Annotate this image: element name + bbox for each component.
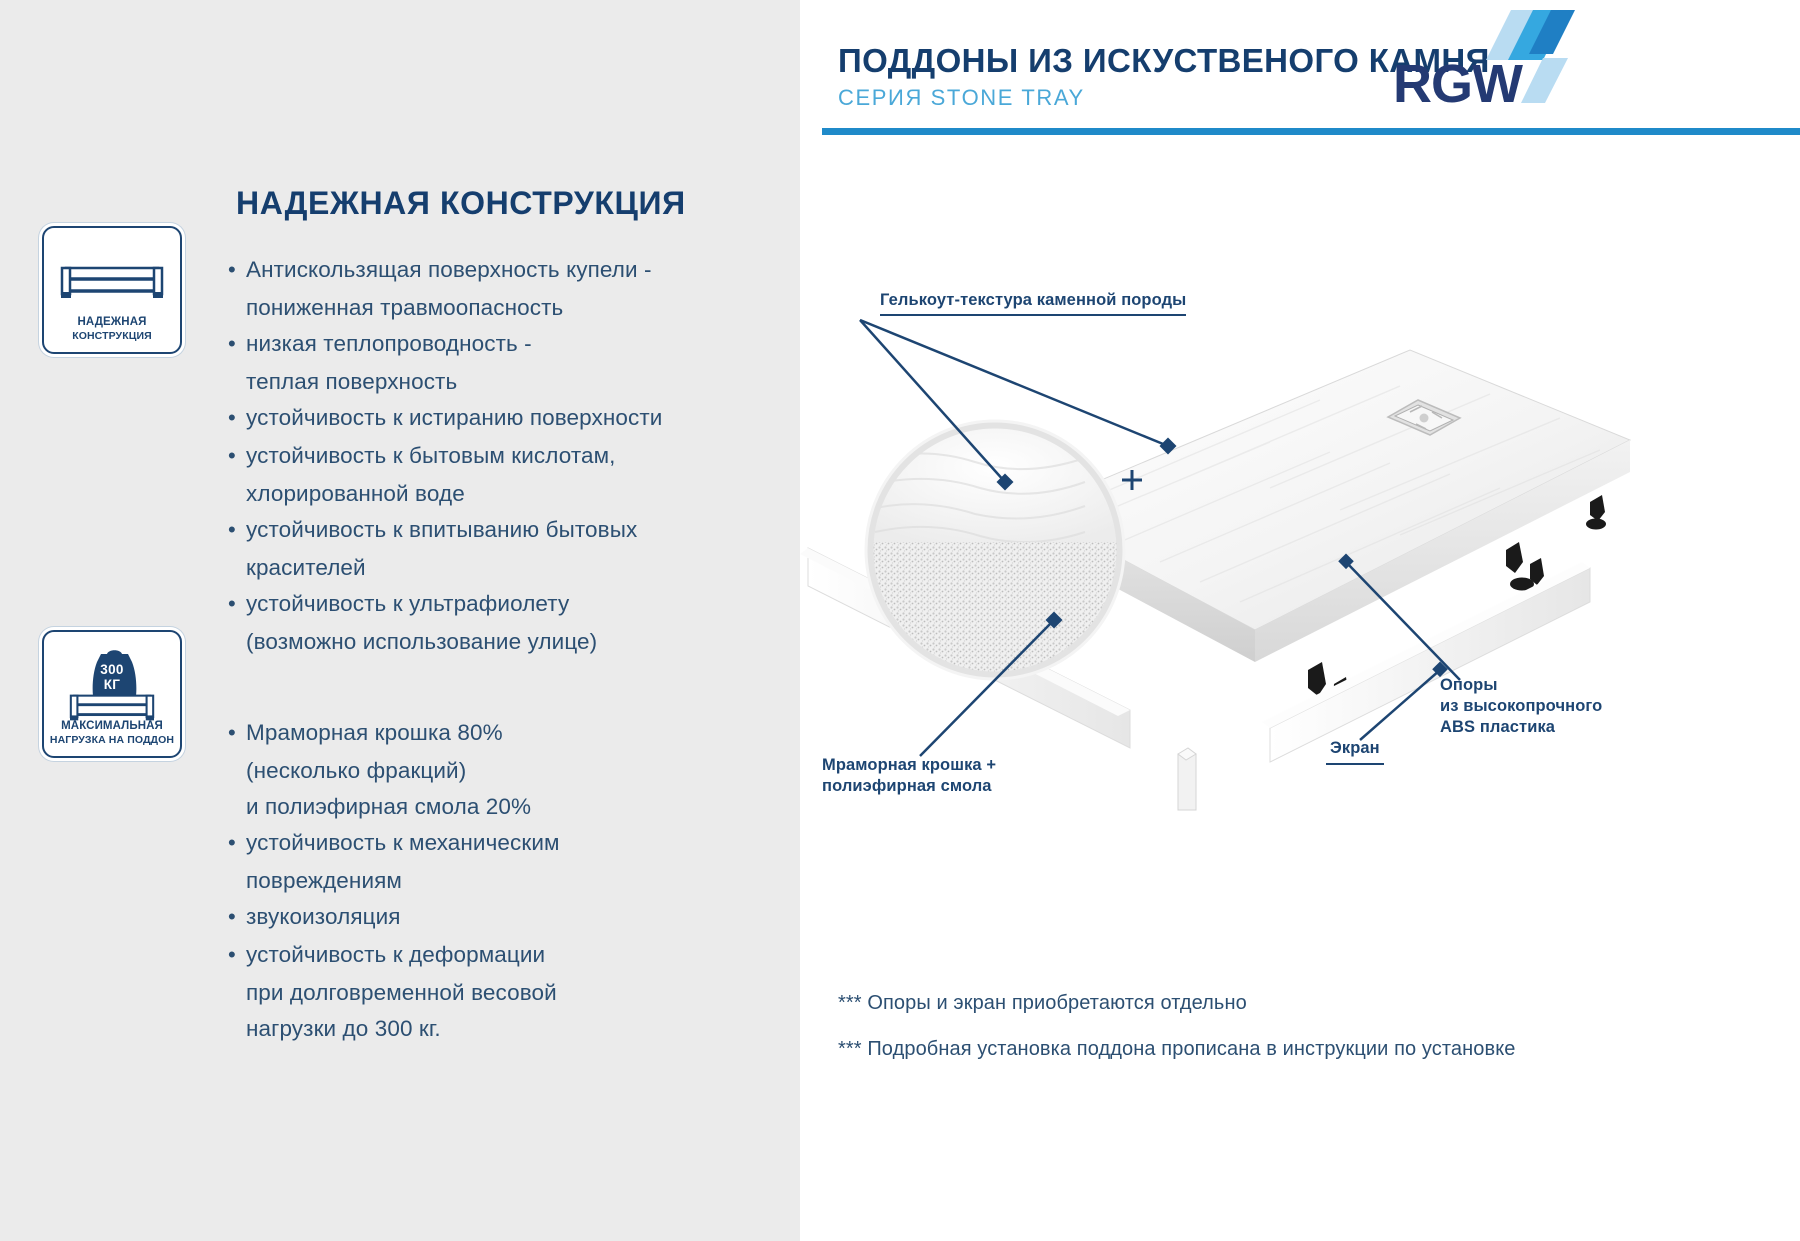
- callout-marble-line1: Мраморная крошка +: [822, 756, 996, 774]
- bullet-dot: •: [228, 825, 246, 861]
- weight-value: 300: [100, 662, 123, 677]
- feature-list-construction: •Антискользящая поверхность купели - пон…: [228, 252, 758, 660]
- list-item: •низкая теплопроводность -: [228, 326, 758, 362]
- footnote-row: *** Подробная установка поддона прописан…: [838, 1026, 1778, 1072]
- feature-list-material: •Мраморная крошка 80% (несколько фракций…: [228, 715, 758, 1047]
- list-item-label: низкая теплопроводность -: [246, 326, 532, 362]
- badge2-caption-line2: НАГРУЗКА НА ПОДДОН: [44, 734, 180, 748]
- list-item-label: устойчивость к механическим: [246, 825, 560, 861]
- badge1-caption-line2: КОНСТРУКЦИЯ: [44, 330, 180, 344]
- list-item-label: устойчивость к впитыванию бытовых: [246, 512, 637, 548]
- callout-supports-line3: ABS пластика: [1440, 718, 1555, 736]
- rgw-logo: RGW: [1393, 8, 1593, 118]
- bullet-dot: •: [228, 252, 246, 288]
- list-item-cont: и полиэфирная смола 20%: [228, 789, 758, 825]
- callout-supports-line1: Опоры: [1440, 676, 1498, 694]
- page-subtitle: СЕРИЯ STONE TRAY: [838, 85, 1085, 111]
- list-item-cont: нагрузки до 300 кг.: [228, 1011, 758, 1047]
- weight-value-label: 300 КГ: [44, 662, 180, 692]
- logo-wordmark: RGW: [1393, 53, 1522, 115]
- badge2-caption-line1: МАКСИМАЛЬНАЯ: [61, 720, 163, 732]
- list-item: •Мраморная крошка 80%: [228, 715, 758, 751]
- footnote-text: Опоры и экран приобретаются отдельно: [867, 992, 1247, 1014]
- list-item: •звукоизоляция: [228, 899, 758, 935]
- list-item-label: устойчивость к истиранию поверхности: [246, 400, 662, 436]
- page-title: ПОДДОНЫ ИЗ ИСКУСТВЕНОГО КАМНЯ: [838, 42, 1490, 80]
- callout-marble: Мраморная крошка + полиэфирная смола: [822, 755, 996, 797]
- list-item-cont: хлорированной воде: [228, 476, 758, 512]
- badge-max-load: 300 КГ МАКСИМАЛЬНАЯ НАГРУЗКА НА ПОДДОН: [42, 630, 182, 758]
- list-item-cont: пониженная травмоопасность: [228, 290, 758, 326]
- badge-reliable-construction: НАДЕЖНАЯ КОНСТРУКЦИЯ: [42, 226, 182, 354]
- list-item-cont: при долговременной весовой: [228, 975, 758, 1011]
- callout-supports: Опоры из высокопрочного ABS пластика: [1440, 675, 1602, 738]
- shower-tray-icon: [60, 694, 164, 722]
- bullet-dot: •: [228, 512, 246, 548]
- bullet-dot: •: [228, 326, 246, 362]
- infographic-page: НАДЕЖНАЯ КОНСТРУКЦИЯ НАДЕЖНАЯ КОНСТРУКЦИ…: [0, 0, 1800, 1241]
- material-magnifier: [866, 421, 1124, 682]
- product-diagram: Гелькоут-текстура каменной породы Мрамор…: [800, 150, 1800, 950]
- header-divider: [822, 128, 1800, 135]
- badge-caption: НАДЕЖНАЯ КОНСТРУКЦИЯ: [44, 316, 180, 343]
- list-item: •Антискользящая поверхность купели -: [228, 252, 758, 288]
- footnote-marker: ***: [838, 992, 862, 1014]
- badge1-caption-line1: НАДЕЖНАЯ: [78, 316, 147, 328]
- list-item-cont: красителей: [228, 550, 758, 586]
- footnote-text: Подробная установка поддона прописана в …: [867, 1038, 1515, 1060]
- list-item: •устойчивость к впитыванию бытовых: [228, 512, 758, 548]
- bullet-dot: •: [228, 438, 246, 474]
- callout-screen: Экран: [1330, 738, 1380, 759]
- bullet-dot: •: [228, 586, 246, 622]
- footnote-marker: ***: [838, 1038, 862, 1060]
- list-item-cont: повреждениям: [228, 863, 758, 899]
- footnotes: *** Опоры и экран приобретаются отдельно…: [838, 980, 1778, 1072]
- list-item-cont: теплая поверхность: [228, 364, 758, 400]
- list-item: •устойчивость к деформации: [228, 937, 758, 973]
- list-item-label: звукоизоляция: [246, 899, 401, 935]
- callout-supports-line2: из высокопрочного: [1440, 697, 1602, 715]
- bullet-dot: •: [228, 400, 246, 436]
- weight-unit: КГ: [104, 677, 121, 692]
- list-item-cont: (возможно использование улице): [228, 624, 758, 660]
- tray-illustration: [800, 150, 1800, 950]
- list-item: •устойчивость к ультрафиолету: [228, 586, 758, 622]
- bullet-dot: •: [228, 937, 246, 973]
- list-item: •устойчивость к механическим: [228, 825, 758, 861]
- bullet-dot: •: [228, 715, 246, 751]
- footnote-row: *** Опоры и экран приобретаются отдельно: [838, 980, 1778, 1026]
- callout-gelcoat: Гелькоут-текстура каменной породы: [880, 290, 1186, 311]
- list-item: •устойчивость к истиранию поверхности: [228, 400, 758, 436]
- list-item-label: устойчивость к бытовым кислотам,: [246, 438, 616, 474]
- sidebar: НАДЕЖНАЯ КОНСТРУКЦИЯ НАДЕЖНАЯ КОНСТРУКЦИ…: [0, 0, 800, 1241]
- bullet-dot: •: [228, 899, 246, 935]
- badge-caption: МАКСИМАЛЬНАЯ НАГРУЗКА НА ПОДДОН: [44, 720, 180, 747]
- main-panel: ПОДДОНЫ ИЗ ИСКУСТВЕНОГО КАМНЯ СЕРИЯ STON…: [800, 0, 1800, 1241]
- list-item: •устойчивость к бытовым кислотам,: [228, 438, 758, 474]
- shower-tray-icon: [60, 266, 164, 300]
- list-item-cont: (несколько фракций): [228, 753, 758, 789]
- list-item-label: Мраморная крошка 80%: [246, 715, 503, 751]
- list-item-label: устойчивость к ультрафиолету: [246, 586, 569, 622]
- list-item-label: Антискользящая поверхность купели -: [246, 252, 652, 288]
- callout-marble-line2: полиэфирная смола: [822, 777, 992, 795]
- sidebar-title: НАДЕЖНАЯ КОНСТРУКЦИЯ: [236, 185, 686, 222]
- list-item-label: устойчивость к деформации: [246, 937, 545, 973]
